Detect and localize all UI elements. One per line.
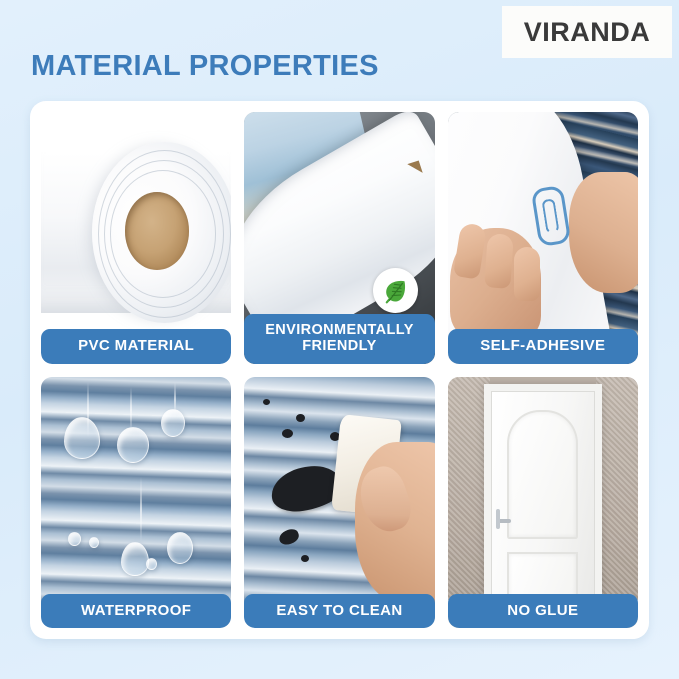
feature-label-pvc-material: PVC MATERIAL bbox=[41, 329, 231, 363]
water-droplet bbox=[89, 537, 99, 548]
door-leaf bbox=[491, 391, 595, 615]
feature-card-no-glue: NO GLUE bbox=[448, 377, 638, 629]
feature-card-waterproof: WATERPROOF bbox=[41, 377, 231, 629]
water-droplet bbox=[68, 532, 81, 546]
water-droplet bbox=[121, 542, 149, 576]
water-droplet bbox=[161, 409, 185, 437]
easy-to-clean-image bbox=[244, 377, 434, 629]
right-hand bbox=[569, 172, 638, 293]
page-header: VIRANDA MATERIAL PROPERTIES bbox=[0, 0, 679, 100]
no-glue-door-image bbox=[448, 377, 638, 629]
feature-card-easy-to-clean: EASY TO CLEAN bbox=[244, 377, 434, 629]
leaf-icon bbox=[373, 268, 418, 313]
feature-card-pvc-material: PVC MATERIAL bbox=[41, 112, 231, 364]
water-droplet bbox=[167, 532, 193, 564]
water-droplet bbox=[117, 427, 149, 463]
self-adhesive-image bbox=[448, 112, 638, 364]
pvc-roll-image bbox=[41, 112, 231, 364]
door-frame bbox=[484, 384, 602, 615]
feature-card-environmentally-friendly: ENVIRONMENTALLY FRIENDLY bbox=[244, 112, 434, 364]
feature-label-self-adhesive: SELF-ADHESIVE bbox=[448, 329, 638, 363]
brand-logo-text: VIRANDA bbox=[524, 17, 651, 48]
features-panel: PVC MATERIAL ENVIRONME bbox=[30, 101, 649, 639]
feature-label-easy-to-clean: EASY TO CLEAN bbox=[244, 594, 434, 628]
page-title: MATERIAL PROPERTIES bbox=[31, 50, 379, 83]
door-handle-icon bbox=[498, 519, 511, 523]
feature-label-waterproof: WATERPROOF bbox=[41, 594, 231, 628]
waterproof-image bbox=[41, 377, 231, 629]
brand-logo: VIRANDA bbox=[502, 6, 672, 58]
water-droplet bbox=[146, 558, 157, 570]
feature-label-environmentally-friendly: ENVIRONMENTALLY FRIENDLY bbox=[244, 314, 434, 363]
feature-card-self-adhesive: SELF-ADHESIVE bbox=[448, 112, 638, 364]
features-grid: PVC MATERIAL ENVIRONME bbox=[41, 112, 638, 628]
water-droplet bbox=[64, 417, 100, 459]
feature-label-no-glue: NO GLUE bbox=[448, 594, 638, 628]
